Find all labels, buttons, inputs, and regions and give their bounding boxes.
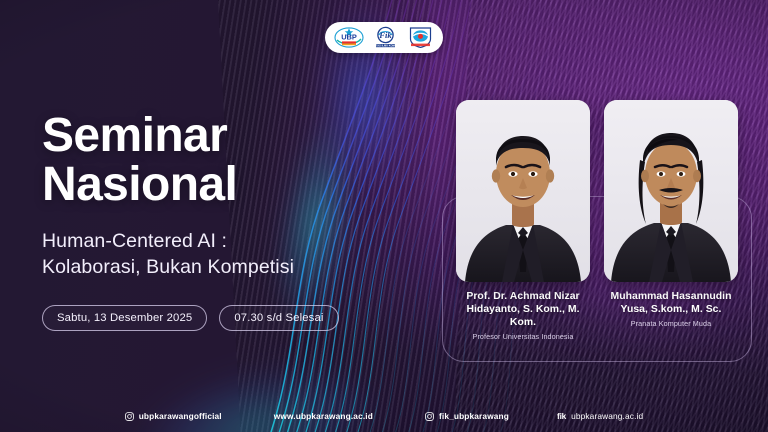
page-subtitle: Human-Centered AI : Kolaborasi, Bukan Ko… bbox=[42, 229, 402, 281]
time-badge: 07.30 s/d Selesai bbox=[219, 305, 338, 332]
subtitle-line-1: Human-Centered AI : bbox=[42, 230, 227, 252]
instagram-icon bbox=[425, 412, 434, 421]
speaker-name-line-1: Muhammad Hasannudin bbox=[610, 291, 731, 302]
speaker-name: Muhammad Hasannudin Yusa, S.kom., M. Sc. bbox=[604, 290, 738, 316]
footer-website-university[interactable]: www.ubpkarawang.ac.id bbox=[274, 411, 373, 421]
ubp-karawang-logo: UBP bbox=[334, 26, 364, 50]
footer-label: fik_ubpkarawang bbox=[439, 411, 509, 421]
speaker-name-line-2: Yusa, S.kom., M. Sc. bbox=[604, 303, 738, 316]
speaker-role: Pranata Komputer Muda bbox=[604, 319, 738, 328]
svg-text:Fik: Fik bbox=[378, 30, 392, 40]
speaker-card: Muhammad Hasannudin Yusa, S.kom., M. Sc.… bbox=[604, 100, 738, 341]
footer-label: www.ubpkarawang.ac.id bbox=[274, 411, 373, 421]
headline-block: Seminar Nasional Human-Centered AI : Kol… bbox=[42, 112, 402, 331]
speaker-name: Prof. Dr. Achmad Nizar Hidayanto, S. Kom… bbox=[456, 290, 590, 329]
title-line-1: Seminar bbox=[42, 109, 227, 162]
speaker-list: Prof. Dr. Achmad Nizar Hidayanto, S. Kom… bbox=[456, 100, 738, 341]
speaker-role: Profesor Universitas Indonesia bbox=[456, 332, 590, 341]
speaker-photo-hasannudin-yusa bbox=[604, 100, 738, 282]
fik-mark: fik bbox=[557, 411, 566, 421]
footer-instagram-fik[interactable]: fik_ubpkarawang bbox=[425, 411, 509, 421]
fik-logo: Fik FAKULTAS ILMU KOMPUTER bbox=[373, 26, 398, 50]
logo-bar: UBP Fik FAKULTAS ILMU KOMPUTER bbox=[325, 22, 443, 53]
page-title: Seminar Nasional bbox=[42, 112, 402, 210]
date-badge: Sabtu, 13 Desember 2025 bbox=[42, 305, 207, 332]
prodi-logo bbox=[407, 26, 434, 50]
footer-label: ubpkarawangofficial bbox=[139, 411, 222, 421]
instagram-icon bbox=[125, 412, 134, 421]
svg-text:FAKULTAS ILMU KOMPUTER: FAKULTAS ILMU KOMPUTER bbox=[373, 44, 398, 48]
speaker-photo-achmad-nizar bbox=[456, 100, 590, 282]
svg-text:UBP: UBP bbox=[341, 33, 357, 42]
event-meta: Sabtu, 13 Desember 2025 07.30 s/d Selesa… bbox=[42, 305, 402, 332]
footer-label: ubpkarawang.ac.id bbox=[571, 411, 643, 421]
subtitle-line-2: Kolaborasi, Bukan Kompetisi bbox=[42, 255, 402, 281]
speaker-card: Prof. Dr. Achmad Nizar Hidayanto, S. Kom… bbox=[456, 100, 590, 341]
title-line-2: Nasional bbox=[42, 161, 402, 210]
footer-website-fik[interactable]: fik ubpkarawang.ac.id bbox=[557, 411, 643, 421]
seminar-poster: UBP Fik FAKULTAS ILMU KOMPUTER bbox=[0, 0, 768, 432]
speaker-name-line-2: Hidayanto, S. Kom., M. Kom. bbox=[456, 303, 590, 329]
speaker-name-line-1: Prof. Dr. Achmad Nizar bbox=[466, 291, 579, 302]
footer-bar: ubpkarawangofficial www.ubpkarawang.ac.i… bbox=[0, 411, 768, 421]
footer-instagram-university[interactable]: ubpkarawangofficial bbox=[125, 411, 222, 421]
